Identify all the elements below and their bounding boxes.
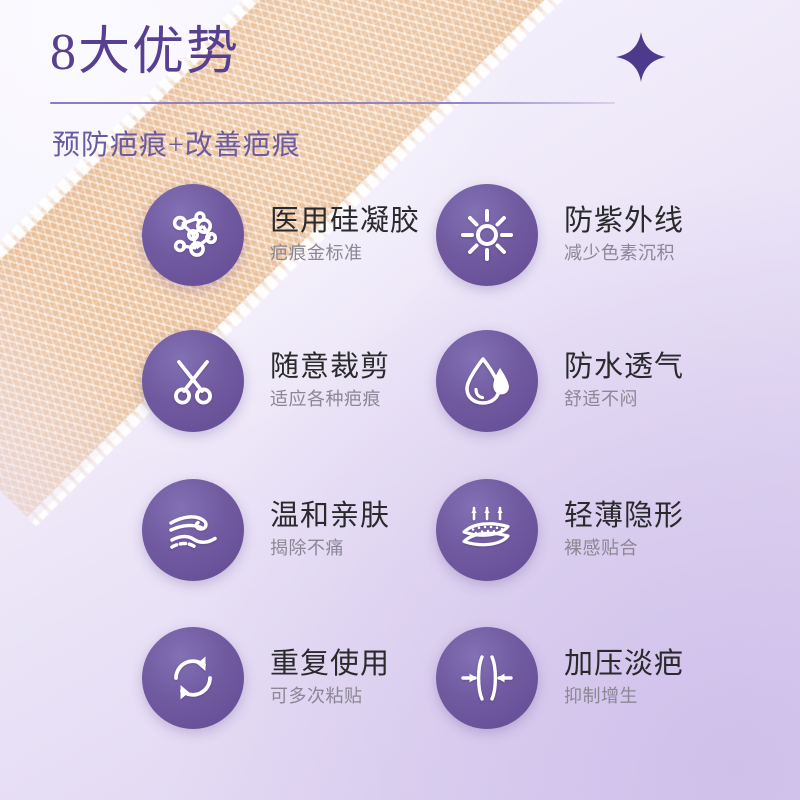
feature-sub-2: 减少色素沉积	[564, 243, 684, 265]
feature-badge-6	[436, 479, 538, 581]
feature-badge-2	[436, 184, 538, 286]
feature-badge-5	[142, 479, 244, 581]
feature-title-7: 重复使用	[270, 648, 390, 680]
scissors-icon	[165, 353, 221, 409]
feature-sub-6: 裸感贴合	[564, 538, 684, 560]
feature-item-8[interactable]: 加压淡疤 抑制增生	[436, 627, 684, 729]
feature-text-3: 随意裁剪 适应各种疤痕	[270, 351, 390, 411]
feature-item-1[interactable]: 医用硅凝胶 疤痕金标准	[142, 184, 420, 286]
feature-sub-5: 揭除不痛	[270, 538, 390, 560]
feature-badge-4	[436, 330, 538, 432]
feature-grid: 医用硅凝胶 疤痕金标准 防紫外线 减少色素沉积	[0, 0, 800, 800]
feature-sub-3: 适应各种疤痕	[270, 389, 390, 411]
feature-item-6[interactable]: 轻薄隐形 裸感贴合	[436, 479, 684, 581]
feature-item-7[interactable]: 重复使用 可多次粘贴	[142, 627, 390, 729]
feature-title-8: 加压淡疤	[564, 648, 684, 680]
peel-patch-icon	[163, 500, 223, 560]
feature-title-6: 轻薄隐形	[564, 500, 684, 532]
feature-title-1: 医用硅凝胶	[270, 205, 420, 237]
feature-item-4[interactable]: 防水透气 舒适不闷	[436, 330, 684, 432]
feature-sub-7: 可多次粘贴	[270, 686, 390, 708]
feature-item-3[interactable]: 随意裁剪 适应各种疤痕	[142, 330, 390, 432]
molecule-icon	[164, 206, 222, 264]
feature-text-4: 防水透气 舒适不闷	[564, 351, 684, 411]
feature-text-5: 温和亲肤 揭除不痛	[270, 500, 390, 560]
feature-item-5[interactable]: 温和亲肤 揭除不痛	[142, 479, 390, 581]
feature-badge-1	[142, 184, 244, 286]
refresh-cycle-icon	[164, 649, 222, 707]
feature-badge-7	[142, 627, 244, 729]
feature-title-2: 防紫外线	[564, 205, 684, 237]
feature-text-7: 重复使用 可多次粘贴	[270, 648, 390, 708]
feature-text-2: 防紫外线 减少色素沉积	[564, 205, 684, 265]
feature-title-4: 防水透气	[564, 351, 684, 383]
feature-title-5: 温和亲肤	[270, 500, 390, 532]
feature-item-2[interactable]: 防紫外线 减少色素沉积	[436, 184, 684, 286]
compression-arrows-icon	[458, 649, 516, 707]
feature-sub-8: 抑制增生	[564, 686, 684, 708]
feature-text-1: 医用硅凝胶 疤痕金标准	[270, 205, 420, 265]
feature-badge-3	[142, 330, 244, 432]
feature-text-8: 加压淡疤 抑制增生	[564, 648, 684, 708]
breathable-sheet-icon	[456, 499, 518, 561]
feature-text-6: 轻薄隐形 裸感贴合	[564, 500, 684, 560]
feature-badge-8	[436, 627, 538, 729]
water-drop-icon	[459, 353, 515, 409]
feature-sub-1: 疤痕金标准	[270, 243, 420, 265]
feature-sub-4: 舒适不闷	[564, 389, 684, 411]
poster-canvas: 8大优势 预防疤痕+改善疤痕	[0, 0, 800, 800]
sun-icon	[459, 207, 515, 263]
feature-title-3: 随意裁剪	[270, 351, 390, 383]
